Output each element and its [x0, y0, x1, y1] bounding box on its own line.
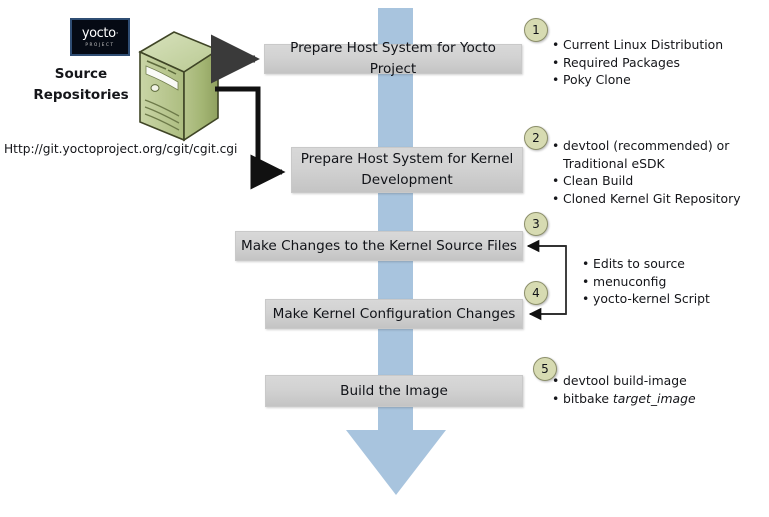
note-item: Clean Build	[563, 172, 738, 190]
loop-notes: Edits to source menuconfig yocto-kernel …	[578, 255, 710, 308]
note-item: yocto-kernel Script	[593, 290, 710, 308]
step-box-2-line1: Prepare Host System for Kernel	[301, 149, 514, 170]
step-badge-3: 3	[524, 212, 548, 236]
note-item: Edits to source	[593, 255, 710, 273]
note-item-bitbake: bitbake target_image	[563, 390, 696, 408]
step-notes-5: devtool build-image bitbake target_image	[548, 372, 696, 407]
step-box-make-changes-kernel-source[interactable]: Make Changes to the Kernel Source Files	[235, 231, 523, 261]
step-notes-2: devtool (recommended) or Traditional eSD…	[548, 137, 738, 207]
step-box-build-the-image[interactable]: Build the Image	[265, 375, 523, 407]
note-item: devtool build-image	[563, 372, 696, 390]
step-badge-2: 2	[524, 126, 548, 150]
note-item: Current Linux Distribution	[563, 36, 723, 54]
step-box-prepare-host-kernel[interactable]: Prepare Host System for Kernel Developme…	[291, 147, 523, 193]
step-box-make-kernel-config-changes[interactable]: Make Kernel Configuration Changes	[265, 299, 523, 329]
note-bitbake-target: target_image	[613, 391, 696, 406]
note-item: Poky Clone	[563, 71, 723, 89]
step-box-2-line2: Development	[301, 170, 514, 191]
note-bitbake-cmd: bitbake	[563, 391, 613, 406]
note-item: devtool (recommended) or Traditional eSD…	[563, 137, 738, 172]
step-box-prepare-host-yocto[interactable]: Prepare Host System for Yocto Project	[264, 44, 522, 74]
step-badge-1: 1	[524, 18, 548, 42]
note-item: menuconfig	[593, 273, 710, 291]
note-item: Required Packages	[563, 54, 723, 72]
note-item: Cloned Kernel Git Repository	[563, 190, 738, 208]
diagram-canvas: yocto· PROJECT Source Repositories Http:…	[0, 0, 769, 517]
step-notes-1: Current Linux Distribution Required Pack…	[548, 36, 723, 89]
step-badge-4: 4	[524, 281, 548, 305]
